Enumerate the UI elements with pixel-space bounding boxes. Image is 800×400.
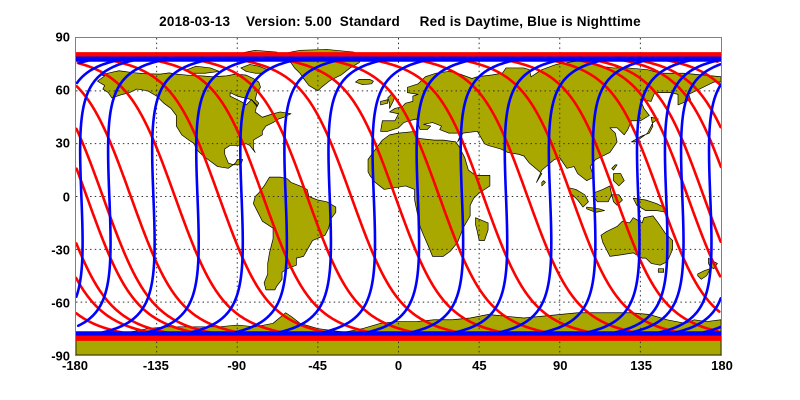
x-axis: -180-135-90-4504590135180 (75, 358, 722, 380)
x-tick-label: 135 (630, 358, 652, 373)
x-tick-label: -180 (62, 358, 88, 373)
x-tick-label: 180 (711, 358, 733, 373)
landmass-tasmania (658, 269, 663, 273)
x-tick-label: 0 (395, 358, 402, 373)
y-tick-label: -60 (26, 295, 70, 310)
x-tick-label: 90 (553, 358, 567, 373)
y-axis: 9060300-30-60-90 (18, 37, 70, 356)
y-tick-label: -30 (26, 242, 70, 257)
page-title: 2018-03-13 Version: 5.00 Standard Red is… (0, 14, 800, 29)
y-tick-label: 0 (26, 189, 70, 204)
plot-area (75, 37, 722, 356)
satellite-ground-track-figure: 2018-03-13 Version: 5.00 Standard Red is… (0, 0, 800, 400)
x-tick-label: -135 (143, 358, 169, 373)
x-tick-label: -45 (308, 358, 327, 373)
y-tick-label: 90 (26, 30, 70, 45)
y-tick-label: 30 (26, 136, 70, 151)
ground-track-svg (76, 38, 721, 355)
y-tick-label: 60 (26, 83, 70, 98)
x-tick-label: 45 (472, 358, 486, 373)
x-tick-label: -90 (227, 358, 246, 373)
